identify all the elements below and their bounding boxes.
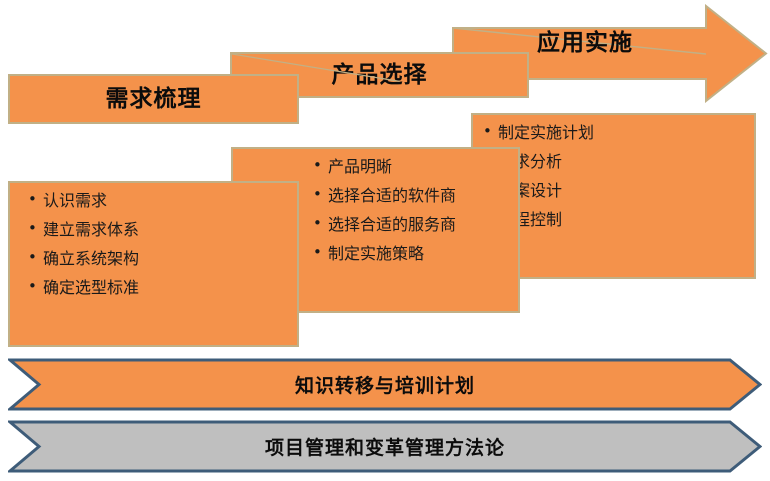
list-item: 确立系统架构	[28, 251, 289, 267]
banner-knowledge-transfer[interactable]: 知识转移与培训计划	[8, 358, 762, 411]
diagram-canvas: 应用实施 产品选择 需求梳理 制定实施计划 需求分析 方案设计 过程控制 产品明…	[0, 0, 770, 481]
list-item: 选择合适的服务商	[313, 217, 510, 233]
stage-1-detail-list: 认识需求 建立需求体系 确立系统架构 确定选型标准	[20, 193, 289, 296]
list-item: 需求分析	[483, 154, 746, 170]
stage-1-label: 需求梳理	[106, 88, 202, 111]
list-item: 产品明晰	[313, 159, 510, 175]
list-item: 制定实施策略	[313, 246, 510, 262]
list-item: 认识需求	[28, 193, 289, 209]
stage-1-box[interactable]: 需求梳理	[8, 74, 299, 124]
list-item: 建立需求体系	[28, 222, 289, 238]
stage-1-detail-box: 认识需求 建立需求体系 确立系统架构 确定选型标准	[8, 181, 299, 347]
stage-3-label: 应用实施	[537, 32, 633, 55]
stage-2-label: 产品选择	[332, 64, 428, 87]
banner-methodology[interactable]: 项目管理和变革管理方法论	[8, 420, 762, 473]
list-item: 确定选型标准	[28, 280, 289, 296]
list-item: 制定实施计划	[483, 125, 746, 141]
list-item: 选择合适的软件商	[313, 188, 510, 204]
stage-3-detail-list: 制定实施计划 需求分析 方案设计 过程控制	[483, 125, 746, 228]
list-item: 过程控制	[483, 212, 746, 228]
list-item: 方案设计	[483, 183, 746, 199]
